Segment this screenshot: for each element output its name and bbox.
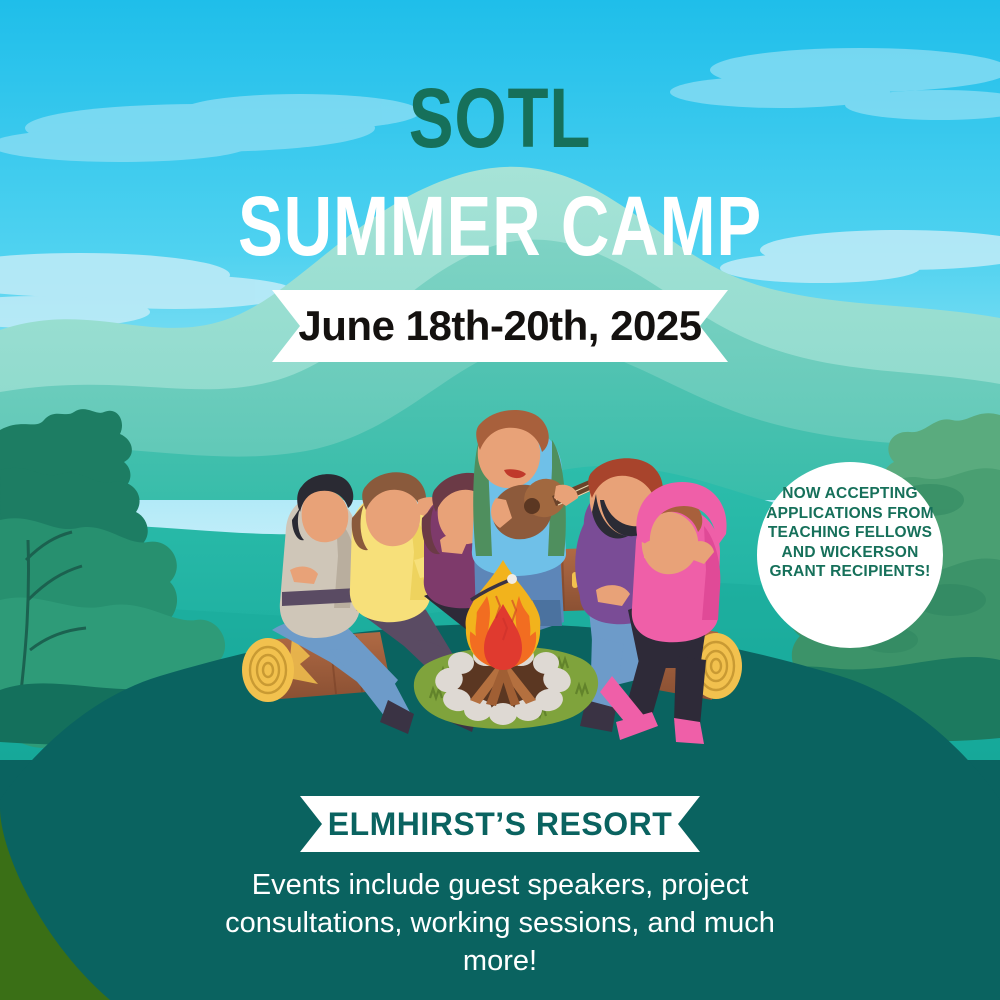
date-banner-text: June 18th-20th, 2025 bbox=[0, 302, 1000, 350]
venue-banner-text: ELMHIRST’S RESORT bbox=[0, 806, 1000, 843]
text-layer: SOTL SUMMER CAMP June 18th-20th, 2025 No… bbox=[0, 0, 1000, 1000]
title-summer-camp: SUMMER CAMP bbox=[100, 184, 900, 268]
badge-text: Now accepting applications from teaching… bbox=[757, 484, 943, 582]
poster-canvas: SOTL SUMMER CAMP June 18th-20th, 2025 No… bbox=[0, 0, 1000, 1000]
description-text: Events include guest speakers, project c… bbox=[215, 866, 785, 980]
title-sotl: SOTL bbox=[100, 76, 900, 160]
